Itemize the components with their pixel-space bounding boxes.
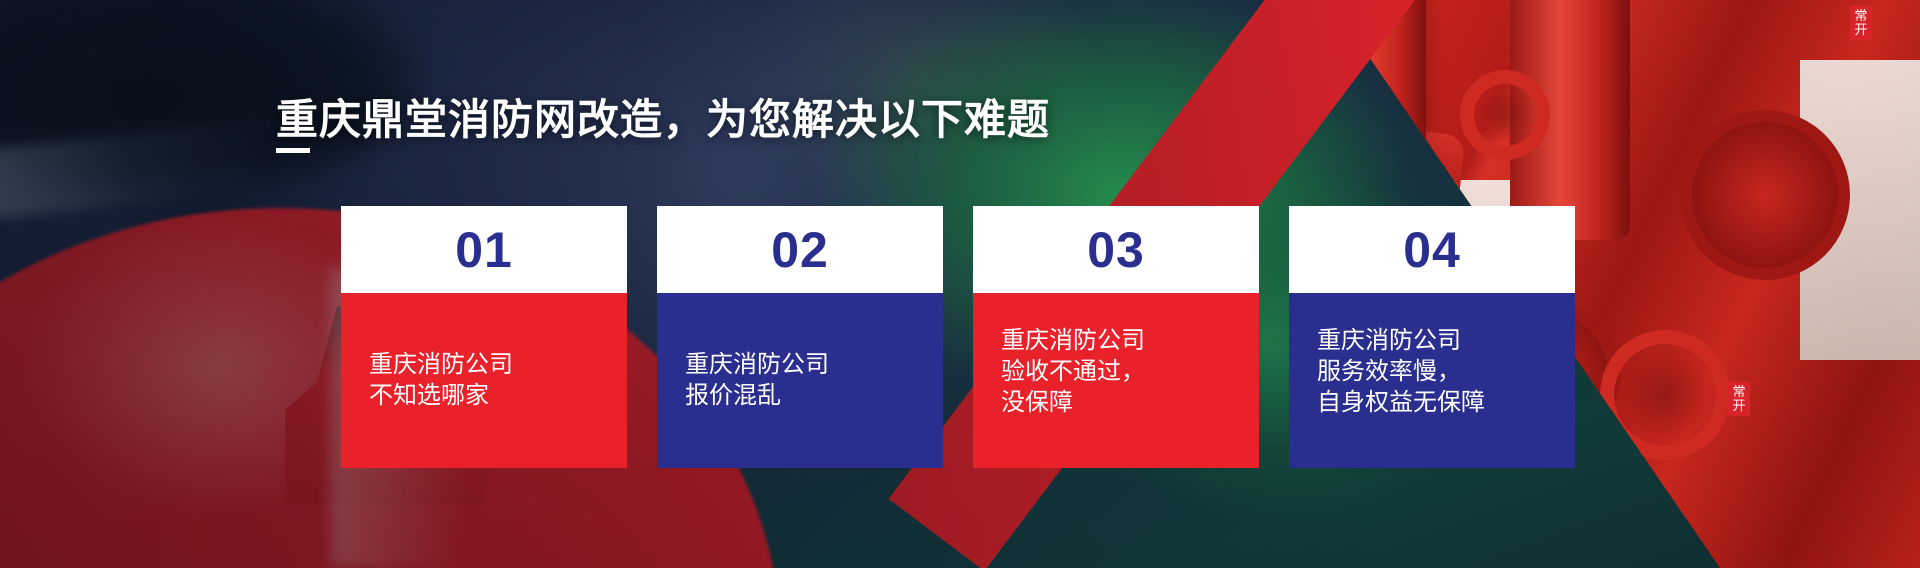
promo-banner: 常开 常闭 常开 重庆鼎堂消防网改造，为您解决以下难题 01 重庆消防公司 不知… — [0, 0, 1920, 568]
title-underline-rule — [276, 148, 310, 153]
card-text-line: 验收不通过， — [1001, 356, 1235, 387]
card-text: 重庆消防公司 不知选哪家 — [341, 293, 627, 468]
card-text-line: 重庆消防公司 — [685, 349, 919, 380]
problem-card-02[interactable]: 02 重庆消防公司 报价混乱 — [657, 206, 943, 468]
card-text-line: 重庆消防公司 — [369, 349, 603, 380]
card-text-line: 报价混乱 — [685, 380, 919, 411]
page-title: 重庆鼎堂消防网改造，为您解决以下难题 — [276, 86, 1050, 147]
card-number: 03 — [973, 206, 1259, 293]
card-text: 重庆消防公司 验收不通过， 没保障 — [973, 293, 1259, 468]
card-number: 02 — [657, 206, 943, 293]
problem-card-list: 01 重庆消防公司 不知选哪家 02 重庆消防公司 报价混乱 03 重庆消防公司… — [341, 206, 1575, 468]
card-number: 04 — [1289, 206, 1575, 293]
problem-card-03[interactable]: 03 重庆消防公司 验收不通过， 没保障 — [973, 206, 1259, 468]
card-text-line: 不知选哪家 — [369, 380, 603, 411]
card-text-line: 重庆消防公司 — [1001, 325, 1235, 356]
problem-card-01[interactable]: 01 重庆消防公司 不知选哪家 — [341, 206, 627, 468]
card-text-line: 重庆消防公司 — [1317, 325, 1551, 356]
card-text-line: 服务效率慢， — [1317, 356, 1551, 387]
card-text: 重庆消防公司 服务效率慢， 自身权益无保障 — [1289, 293, 1575, 468]
problem-card-04[interactable]: 04 重庆消防公司 服务效率慢， 自身权益无保障 — [1289, 206, 1575, 468]
card-text-line: 自身权益无保障 — [1317, 387, 1551, 418]
card-text-line: 没保障 — [1001, 387, 1235, 418]
banner-content: 重庆鼎堂消防网改造，为您解决以下难题 01 重庆消防公司 不知选哪家 02 重庆… — [0, 0, 1920, 568]
card-number: 01 — [341, 206, 627, 293]
card-text: 重庆消防公司 报价混乱 — [657, 293, 943, 468]
